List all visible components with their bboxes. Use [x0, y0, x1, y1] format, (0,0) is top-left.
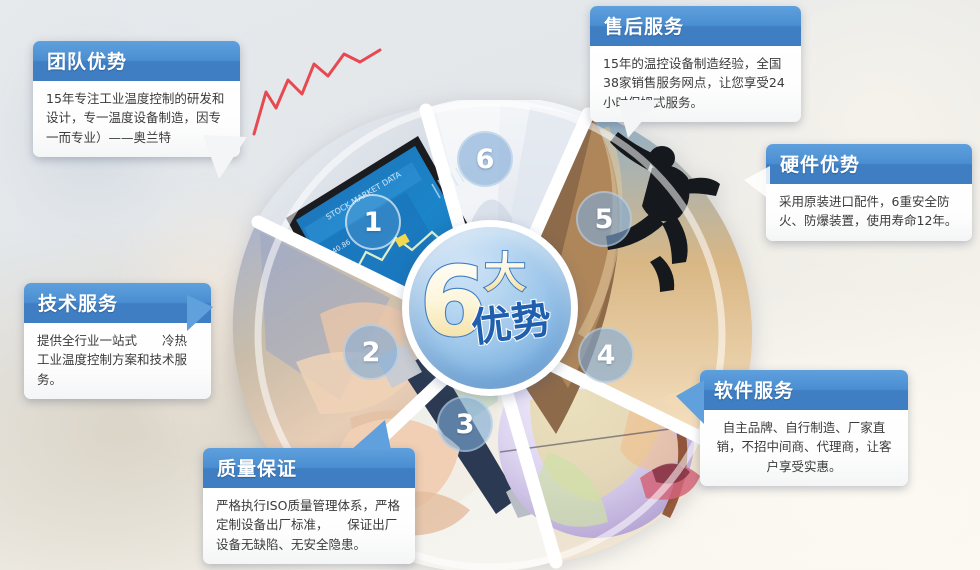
- segment-badge-1[interactable]: 1: [345, 194, 401, 250]
- callout-after-sales-service-title: 售后服务: [590, 6, 801, 46]
- segment-badge-5[interactable]: 5: [576, 191, 632, 247]
- callout-quality-assurance[interactable]: 质量保证 严格执行ISO质量管理体系，严格定制设备出厂标准， 保证出厂设备无缺陷…: [203, 448, 415, 564]
- callout-team-advantage-tail: [203, 135, 249, 181]
- callout-technical-service-tail: [187, 295, 215, 335]
- callout-after-sales-service-tail: [618, 100, 662, 140]
- segment-badge-2-label: 2: [362, 339, 381, 366]
- segment-badge-4-label: 4: [597, 342, 616, 369]
- callout-technical-service-body: 提供全行业一站式 冷热工业温度控制方案和技术服务。: [24, 323, 211, 399]
- svg-text:优势: 优势: [469, 296, 554, 351]
- callout-technical-service[interactable]: 技术服务 提供全行业一站式 冷热工业温度控制方案和技术服务。: [24, 283, 211, 399]
- callout-software-service-tail: [676, 380, 704, 426]
- segment-badge-3[interactable]: 3: [437, 396, 493, 452]
- infographic-canvas: STOCK MARKET DATA iNTC 440.86: [0, 0, 980, 570]
- center-circle-text: 6 大 优势: [409, 227, 571, 389]
- callout-team-advantage[interactable]: 团队优势 15年专注工业温度控制的研发和设计，专一温度设备制造，因专一而专业）—…: [33, 41, 240, 157]
- callout-after-sales-service[interactable]: 售后服务 15年的温控设备制造经验，全国38家销售服务网点，让您享受24小时保姆…: [590, 6, 801, 122]
- callout-hardware-advantage-title: 硬件优势: [766, 144, 972, 184]
- svg-text:大: 大: [484, 248, 526, 297]
- callout-quality-assurance-body: 严格执行ISO质量管理体系，严格定制设备出厂标准， 保证出厂设备无缺陷、无安全隐…: [203, 488, 415, 564]
- callout-team-advantage-title: 团队优势: [33, 41, 240, 81]
- callout-software-service-title: 软件服务: [700, 370, 908, 410]
- segment-badge-1-label: 1: [364, 209, 383, 236]
- callout-software-service-body: 自主品牌、自行制造、厂家直销，不招中间商、代理商，让客户享受实惠。: [700, 410, 908, 486]
- segment-badge-6[interactable]: 6: [457, 131, 513, 187]
- callout-hardware-advantage[interactable]: 硬件优势 采用原装进口配件，6重安全防火、防爆装置，使用寿命12年。: [766, 144, 972, 241]
- callout-quality-assurance-title: 质量保证: [203, 448, 415, 488]
- segment-badge-4[interactable]: 4: [578, 327, 634, 383]
- segment-badge-2[interactable]: 2: [343, 324, 399, 380]
- segment-badge-5-label: 5: [595, 206, 614, 233]
- callout-hardware-advantage-tail: [744, 166, 770, 206]
- callout-technical-service-title: 技术服务: [24, 283, 211, 323]
- callout-quality-assurance-tail: [349, 420, 393, 450]
- segment-badge-6-label: 6: [476, 146, 495, 173]
- callout-software-service[interactable]: 软件服务 自主品牌、自行制造、厂家直销，不招中间商、代理商，让客户享受实惠。: [700, 370, 908, 486]
- segment-badge-3-label: 3: [456, 411, 475, 438]
- callout-hardware-advantage-body: 采用原装进口配件，6重安全防火、防爆装置，使用寿命12年。: [766, 184, 972, 241]
